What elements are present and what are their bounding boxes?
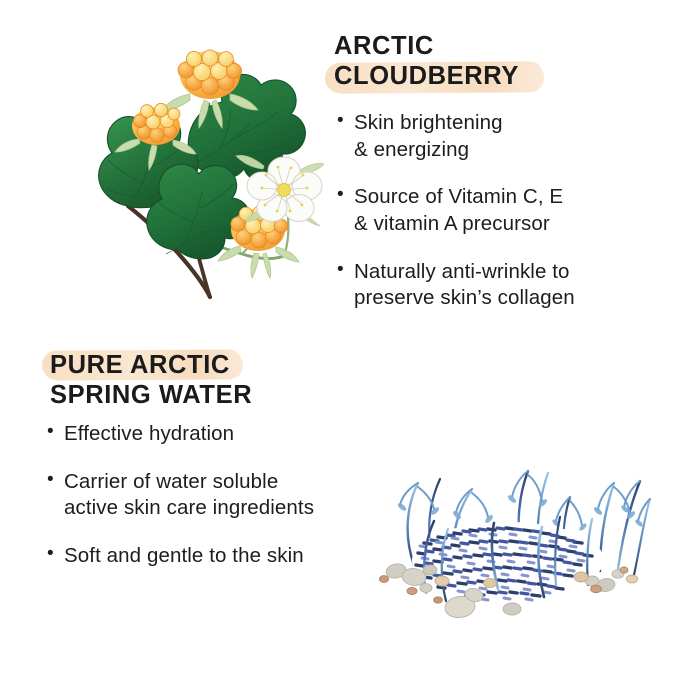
cloudberry-leaf-lower [147,164,251,259]
cloudberry-plant-illustration [44,16,324,326]
list-item: Skin brightening & energizing [337,110,575,163]
heading-pure-arctic-spring-water: PURE ARCTIC SPRING WATER [50,350,252,410]
heading-line-pure-arctic: PURE ARCTIC [50,351,230,379]
bullet-line: Effective hydration [64,421,314,448]
bullet-line: active skin care ingredients [64,495,314,522]
bullet-line: preserve skin’s collagen [354,285,575,312]
bullet-line: Naturally anti-wrinkle to [354,259,575,286]
bullet-line: & energizing [354,137,575,164]
bullet-line: Soft and gentle to the skin [64,543,314,570]
heading-highlight-cloudberry: CLOUDBERRY [334,61,519,91]
heading-highlight-pure-arctic: PURE ARCTIC [50,350,230,380]
list-item: Effective hydration [47,421,314,448]
list-item: Naturally anti-wrinkle to preserve skin’… [337,259,575,312]
heading-line-cloudberry: CLOUDBERRY [334,62,519,90]
list-item: Carrier of water soluble active skin car… [47,469,314,522]
heading-line-arctic: ARCTIC [334,31,519,61]
bullet-line: & vitamin A precursor [354,211,575,238]
heading-line-spring-water: SPRING WATER [50,380,252,410]
list-item: Soft and gentle to the skin [47,543,314,570]
bullet-list-arctic-cloudberry: Skin brightening & energizing Source of … [337,110,575,312]
ingredient-infographic: ARCTIC CLOUDBERRY Skin brightening & ene… [0,0,679,679]
heading-arctic-cloudberry: ARCTIC CLOUDBERRY [334,31,519,91]
arctic-spring-water-illustration [378,425,668,640]
bullet-line: Carrier of water soluble [64,469,314,496]
bullet-line: Skin brightening [354,110,575,137]
list-item: Source of Vitamin C, E & vitamin A precu… [337,184,575,237]
bullet-list-pure-arctic-spring-water: Effective hydration Carrier of water sol… [47,421,314,570]
bullet-line: Source of Vitamin C, E [354,184,575,211]
